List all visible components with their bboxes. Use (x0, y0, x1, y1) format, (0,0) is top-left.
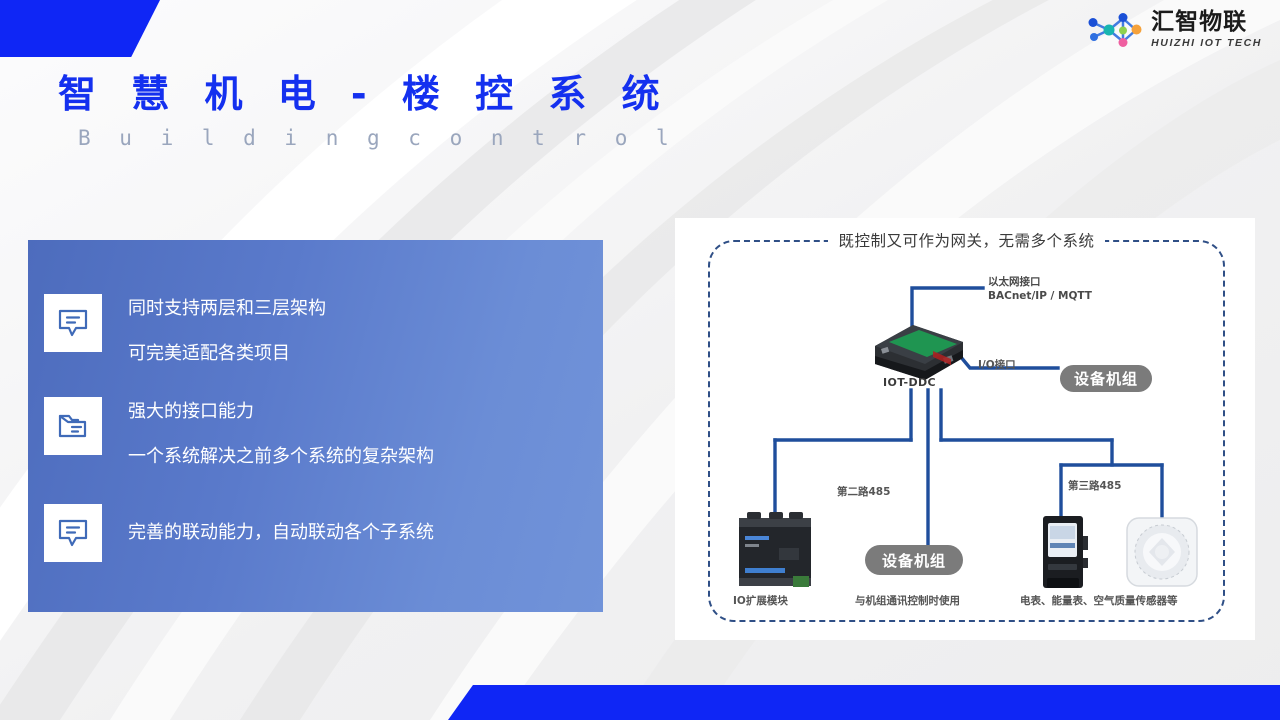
feature-line: 一个系统解决之前多个系统的复杂架构 (128, 448, 434, 466)
features-panel: 同时支持两层和三层架构 可完美适配各类项目 强大的接口能力 一个系统解决之前多个… (28, 240, 603, 612)
pill-equipment-unit-middle: 设备机组 (865, 545, 963, 575)
label-io-module: IO扩展模块 (733, 593, 788, 608)
label-ethernet-line1: 以太网接口 (988, 275, 1092, 289)
slide-canvas: 汇智物联 HUIZHI IOT TECH 智 慧 机 电 - 楼 控 系 统 B… (0, 0, 1280, 720)
speech-bubble-icon (44, 504, 102, 562)
page-title: 智 慧 机 电 - 楼 控 系 统 (58, 63, 671, 118)
label-bus-third: 第三路485 (1068, 478, 1121, 493)
iot-ddc-controller (875, 325, 963, 380)
feature-line: 强大的接口能力 (128, 403, 434, 421)
io-expansion-module (739, 512, 811, 587)
brand-logo: 汇智物联 HUIZHI IOT TECH (1088, 10, 1262, 50)
bottom-right-accent-shape (448, 685, 1280, 720)
speech-bubble-icon (44, 294, 102, 352)
feature-line: 可完美适配各类项目 (128, 345, 326, 363)
label-io-port: I/O接口 (978, 357, 1016, 372)
label-ethernet: 以太网接口 BACnet/IP / MQTT (988, 275, 1092, 303)
feature-item: 强大的接口能力 一个系统解决之前多个系统的复杂架构 (44, 397, 434, 466)
pill-equipment-unit-top: 设备机组 (1060, 365, 1152, 392)
feature-line: 同时支持两层和三层架构 (128, 300, 326, 318)
diagram-graphics (675, 218, 1255, 640)
logo-name-cn: 汇智物联 (1151, 11, 1262, 34)
folder-document-icon (44, 397, 102, 455)
feature-line: 完善的联动能力，自动联动各个子系统 (128, 524, 434, 542)
label-right-caption: 电表、能量表、空气质量传感器等 (1020, 593, 1178, 608)
feature-item: 完善的联动能力，自动联动各个子系统 (44, 504, 434, 562)
label-iot-ddc: IOT-DDC (883, 376, 936, 389)
logo-name-en: HUIZHI IOT TECH (1151, 38, 1262, 49)
architecture-diagram-card: 既控制又可作为网关，无需多个系统 (675, 218, 1255, 640)
page-subtitle: B u i l d i n g c o n t r o l (78, 126, 677, 150)
air-quality-sensor (1127, 518, 1197, 586)
label-ethernet-line2: BACnet/IP / MQTT (988, 289, 1092, 303)
molecule-network-icon (1088, 10, 1144, 50)
label-middle-caption: 与机组通讯控制时使用 (855, 593, 960, 608)
label-bus-second: 第二路485 (837, 484, 890, 499)
feature-item: 同时支持两层和三层架构 可完美适配各类项目 (44, 294, 326, 363)
energy-meter (1043, 516, 1088, 588)
